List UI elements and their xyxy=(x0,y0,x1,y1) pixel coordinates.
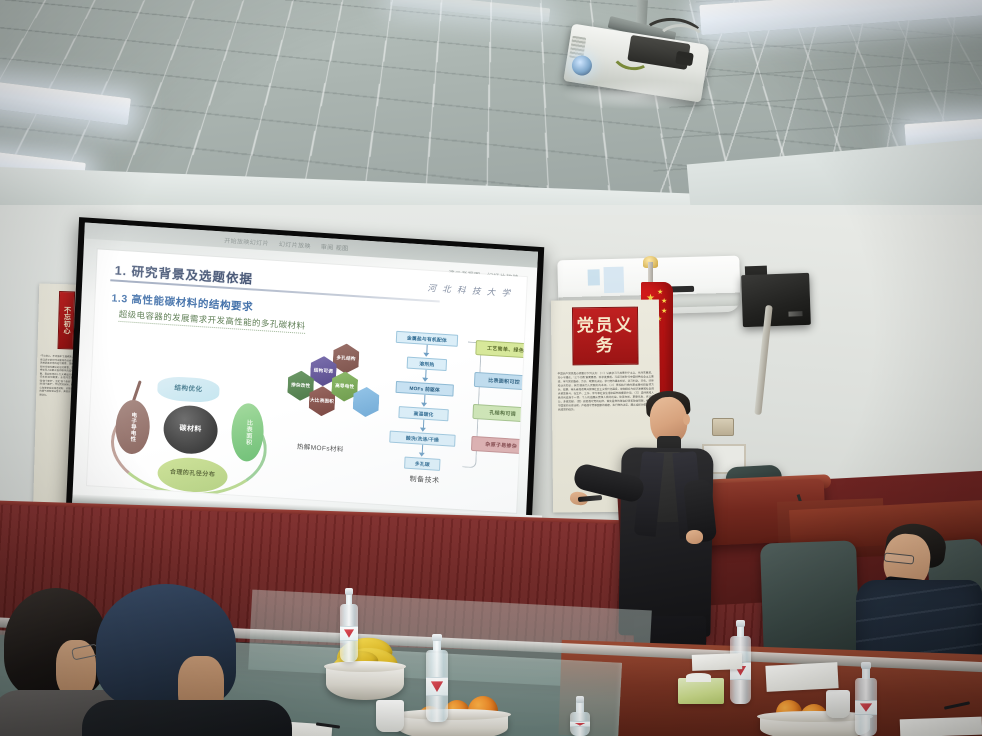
diagram-hexagon-cluster: 多孔结构 结构可调 掺杂改性 大比表面积 高导电性 热解MOFs材料 xyxy=(284,340,397,467)
slide-content: 1. 研究背景及选题依据 河 北 科 技 大 学 1.3 高性能碳材料的结构要求… xyxy=(87,249,527,513)
bottle-label xyxy=(570,721,590,727)
attendee-fg2-body xyxy=(82,700,292,736)
flow-result: 杂原子易掺杂 xyxy=(471,436,527,455)
chair-right-front xyxy=(760,540,860,661)
ppt-menu-item[interactable]: 审阅 视图 xyxy=(321,241,349,252)
flow-step: 多孔碳 xyxy=(404,457,440,471)
flow-arrow xyxy=(421,403,427,407)
bottle-label xyxy=(855,700,877,715)
tissue-box[interactable] xyxy=(678,678,724,704)
fruit-bowl-bananas xyxy=(326,666,404,700)
document[interactable] xyxy=(765,662,838,692)
projection-screen: 开始放映幻灯片 幻灯片放映 审阅 视图 演示者视图 · 幻灯片放映 1. 研究背… xyxy=(66,217,544,542)
projector-light-glow xyxy=(560,80,720,110)
presenter-ear xyxy=(683,414,690,425)
ac-sticker xyxy=(588,269,600,285)
ppt-menu-item[interactable]: 开始放映幻灯片 xyxy=(224,235,269,247)
hexagon-cluster-caption: 热解MOFs材料 xyxy=(297,441,344,454)
diagram-flowchart: 金属盐与有机配体 溶剂热 MOFs 前驱体 高温碳化 酸洗/洗涤/干燥 多孔碳 xyxy=(388,331,527,491)
meeting-room-photo: ★ ★ ★ ★ ★ 不忘初心 “不忘初心、牢记使命”主题教育，是用习近平新时代中… xyxy=(0,0,982,736)
water-bottle[interactable] xyxy=(340,604,358,662)
ac-sticker xyxy=(603,267,624,294)
bottle-label xyxy=(426,677,448,696)
flow-arrow xyxy=(420,428,426,432)
speaker-logo xyxy=(788,311,802,316)
water-bottle[interactable] xyxy=(855,678,877,736)
flag-star-small: ★ xyxy=(661,308,667,315)
poster-right-body: 中国共产党党员必须履行下列义务：（一）认真学习马克思列宁主义、毛泽东思想、邓小平… xyxy=(552,368,660,415)
poster-right-heading: 党员义务 xyxy=(572,307,639,366)
poster-left-heading: 不忘初心 xyxy=(58,291,76,349)
flow-result: 比表面积可控 xyxy=(474,372,527,391)
projection-screen-surface: 开始放映幻灯片 幻灯片放映 审阅 视图 演示者视图 · 幻灯片放映 1. 研究背… xyxy=(72,222,538,533)
diagram-stem xyxy=(132,380,142,402)
fruit-bowl-oranges xyxy=(398,714,508,736)
flow-arrow xyxy=(422,378,428,382)
flowchart-caption: 制备技术 xyxy=(409,474,439,486)
ppt-menu-item[interactable]: 幻灯片放映 xyxy=(279,239,311,250)
flow-step: 溶剂热 xyxy=(407,357,447,372)
slide-university-logo: 河 北 科 技 大 学 xyxy=(427,282,512,299)
flag-star-small: ★ xyxy=(661,298,667,305)
paper-cup[interactable] xyxy=(826,690,850,718)
paper-cup[interactable] xyxy=(376,700,404,732)
wall-speaker xyxy=(741,273,811,327)
presenter-hand-right xyxy=(686,530,703,544)
fruit-bowl-right xyxy=(760,716,870,736)
document[interactable] xyxy=(900,717,982,736)
wall-socket xyxy=(712,418,734,436)
document[interactable] xyxy=(692,653,743,671)
flow-result: 孔结构可调 xyxy=(472,404,526,423)
bottle-label xyxy=(340,626,358,641)
water-bottle[interactable] xyxy=(730,636,751,704)
flow-arrow xyxy=(423,353,429,357)
flow-arrow xyxy=(419,452,425,456)
diagram-strategy-wheel: 结构优化 电子导电性 碳材料 比表面积 合理的孔径分布 提高碳材料性能的策略 xyxy=(102,302,289,483)
water-bottle[interactable] xyxy=(426,650,448,722)
water-bottle[interactable] xyxy=(570,712,590,736)
flag-star-small: ★ xyxy=(657,289,663,296)
projector-connector xyxy=(675,51,694,66)
flow-result: 工艺简单、绿色 xyxy=(475,340,527,359)
